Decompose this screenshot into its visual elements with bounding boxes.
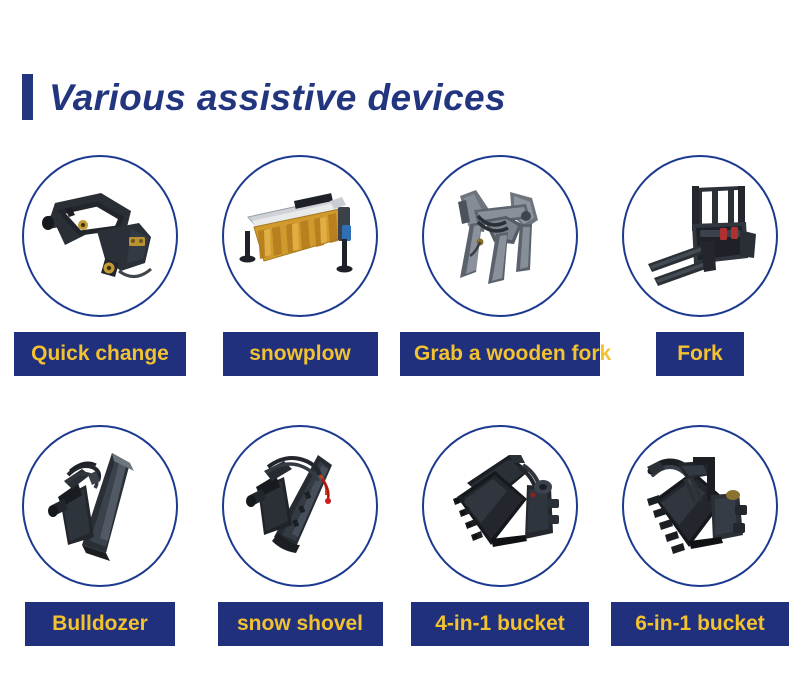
dozer-blade-photo bbox=[34, 441, 166, 571]
product-image-frame bbox=[22, 155, 178, 317]
product-label-wrap: Bulldozer bbox=[0, 602, 200, 646]
product-label-wrap: snow shovel bbox=[200, 602, 400, 646]
six-in-one-bucket-photo bbox=[633, 441, 767, 571]
product-image-frame bbox=[22, 425, 178, 587]
product-image-frame bbox=[622, 155, 778, 317]
product-image-frame bbox=[222, 155, 378, 317]
snowplow-broom-photo bbox=[234, 173, 366, 299]
four-in-one-bucket-photo bbox=[433, 441, 567, 571]
page-title: Various assistive devices bbox=[22, 68, 506, 126]
product-label[interactable]: snow shovel bbox=[218, 602, 383, 646]
product-card-snowplow[interactable]: snowplow bbox=[200, 155, 400, 376]
page-title-text: Various assistive devices bbox=[49, 79, 506, 116]
product-image-frame bbox=[222, 425, 378, 587]
product-row-1: Quick change bbox=[0, 155, 800, 376]
quick-change-attachment-photo bbox=[35, 171, 165, 301]
product-label-wrap: Fork bbox=[600, 332, 800, 376]
product-card-6-in-1-bucket[interactable]: 6-in-1 bucket bbox=[600, 425, 800, 646]
product-label[interactable]: Quick change bbox=[14, 332, 186, 376]
product-card-log-grapple[interactable]: Grab a wooden fork bbox=[400, 155, 600, 376]
product-card-fork[interactable]: Fork bbox=[600, 155, 800, 376]
product-label[interactable]: Bulldozer bbox=[25, 602, 175, 646]
log-grapple-photo bbox=[434, 172, 566, 300]
product-card-bulldozer[interactable]: Bulldozer bbox=[0, 425, 200, 646]
product-label-wrap: Grab a wooden fork bbox=[400, 332, 600, 376]
product-label[interactable]: 6-in-1 bucket bbox=[611, 602, 789, 646]
product-image-frame bbox=[422, 425, 578, 587]
product-row-2: Bulldozer bbox=[0, 425, 800, 646]
pallet-fork-photo bbox=[634, 172, 766, 300]
product-label[interactable]: snowplow bbox=[223, 332, 378, 376]
product-label[interactable]: 4-in-1 bucket bbox=[411, 602, 589, 646]
snow-shovel-blade-photo bbox=[234, 441, 366, 571]
product-label[interactable]: Fork bbox=[656, 332, 744, 376]
product-image-frame bbox=[422, 155, 578, 317]
product-card-quick-change[interactable]: Quick change bbox=[0, 155, 200, 376]
product-card-4-in-1-bucket[interactable]: 4-in-1 bucket bbox=[400, 425, 600, 646]
product-label-wrap: Quick change bbox=[0, 332, 200, 376]
product-card-snow-shovel[interactable]: snow shovel bbox=[200, 425, 400, 646]
product-image-frame bbox=[622, 425, 778, 587]
product-label-wrap: snowplow bbox=[200, 332, 400, 376]
product-label-wrap: 4-in-1 bucket bbox=[400, 602, 600, 646]
product-label-wrap: 6-in-1 bucket bbox=[600, 602, 800, 646]
title-accent-bar bbox=[22, 74, 33, 120]
product-label[interactable]: Grab a wooden fork bbox=[400, 332, 600, 376]
